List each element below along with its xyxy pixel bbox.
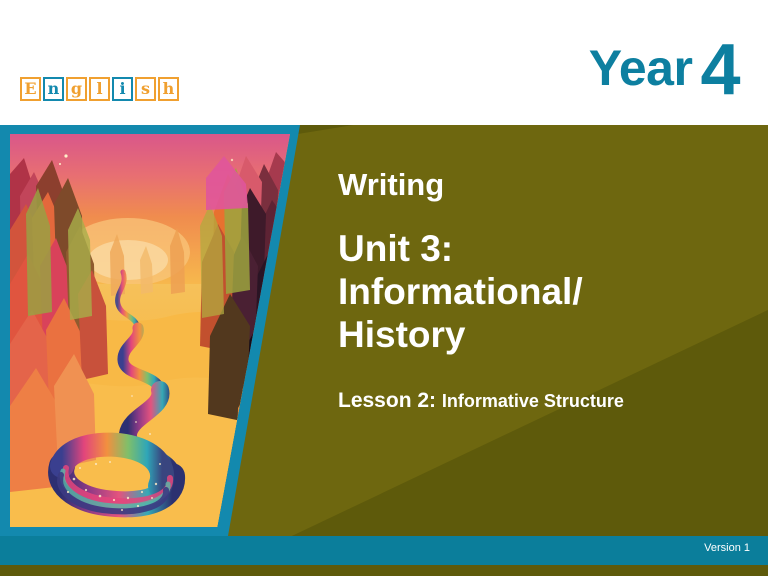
- slide-root: E n g l i s h Year4: [0, 0, 768, 576]
- logo-letter-block: l: [89, 77, 110, 101]
- year-number: 4: [700, 30, 740, 110]
- slide-header: E n g l i s h Year4: [0, 0, 768, 125]
- lesson-label: Lesson 2:: [338, 389, 436, 412]
- logo-letter-block: s: [135, 77, 156, 101]
- english-logo: E n g l i s h: [20, 77, 179, 101]
- logo-letter-block: E: [20, 77, 41, 101]
- unit-title: Unit 3: Informational/ History: [338, 228, 668, 357]
- footer-bottom-strip: [0, 565, 768, 576]
- year-label: Year4: [589, 34, 740, 106]
- logo-letter-block: g: [66, 77, 87, 101]
- version-label: Version 1: [704, 543, 750, 554]
- logo-letter-block: n: [43, 77, 64, 101]
- logo-letter-block: i: [112, 77, 133, 101]
- year-word: Year: [589, 40, 693, 96]
- lesson-line: Lesson 2: Informative Structure: [338, 387, 638, 414]
- footer-bar: Version 1: [0, 536, 768, 565]
- subject-title: Writing: [338, 168, 738, 202]
- title-block: Writing Unit 3: Informational/ History L…: [338, 168, 738, 414]
- logo-letter-block: h: [158, 77, 179, 101]
- lesson-topic: Informative Structure: [442, 391, 624, 411]
